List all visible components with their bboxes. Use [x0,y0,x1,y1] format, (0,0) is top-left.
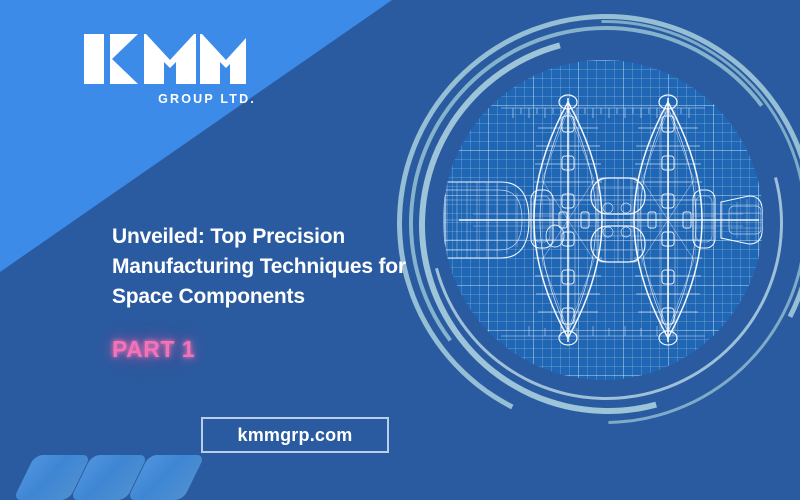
satellite-wireframe-drawing [443,60,763,380]
brand-logo-subtitle: GROUP LTD. [80,92,260,106]
page-title: Unveiled: Top Precision Manufacturing Te… [112,222,412,311]
part-badge: PART 1 [112,336,195,363]
website-url-button[interactable]: kmmgrp.com [201,417,389,453]
chevron-accent-group [20,455,210,500]
poster-canvas: GROUP LTD. Unveiled: Top Precision Manuf… [0,0,800,500]
brand-logo[interactable]: GROUP LTD. [80,28,260,106]
kmm-logo-mark [80,28,250,90]
blueprint-disc [443,60,763,380]
website-url-label: kmmgrp.com [237,425,352,446]
satellite-blueprint-illustration [395,10,800,430]
